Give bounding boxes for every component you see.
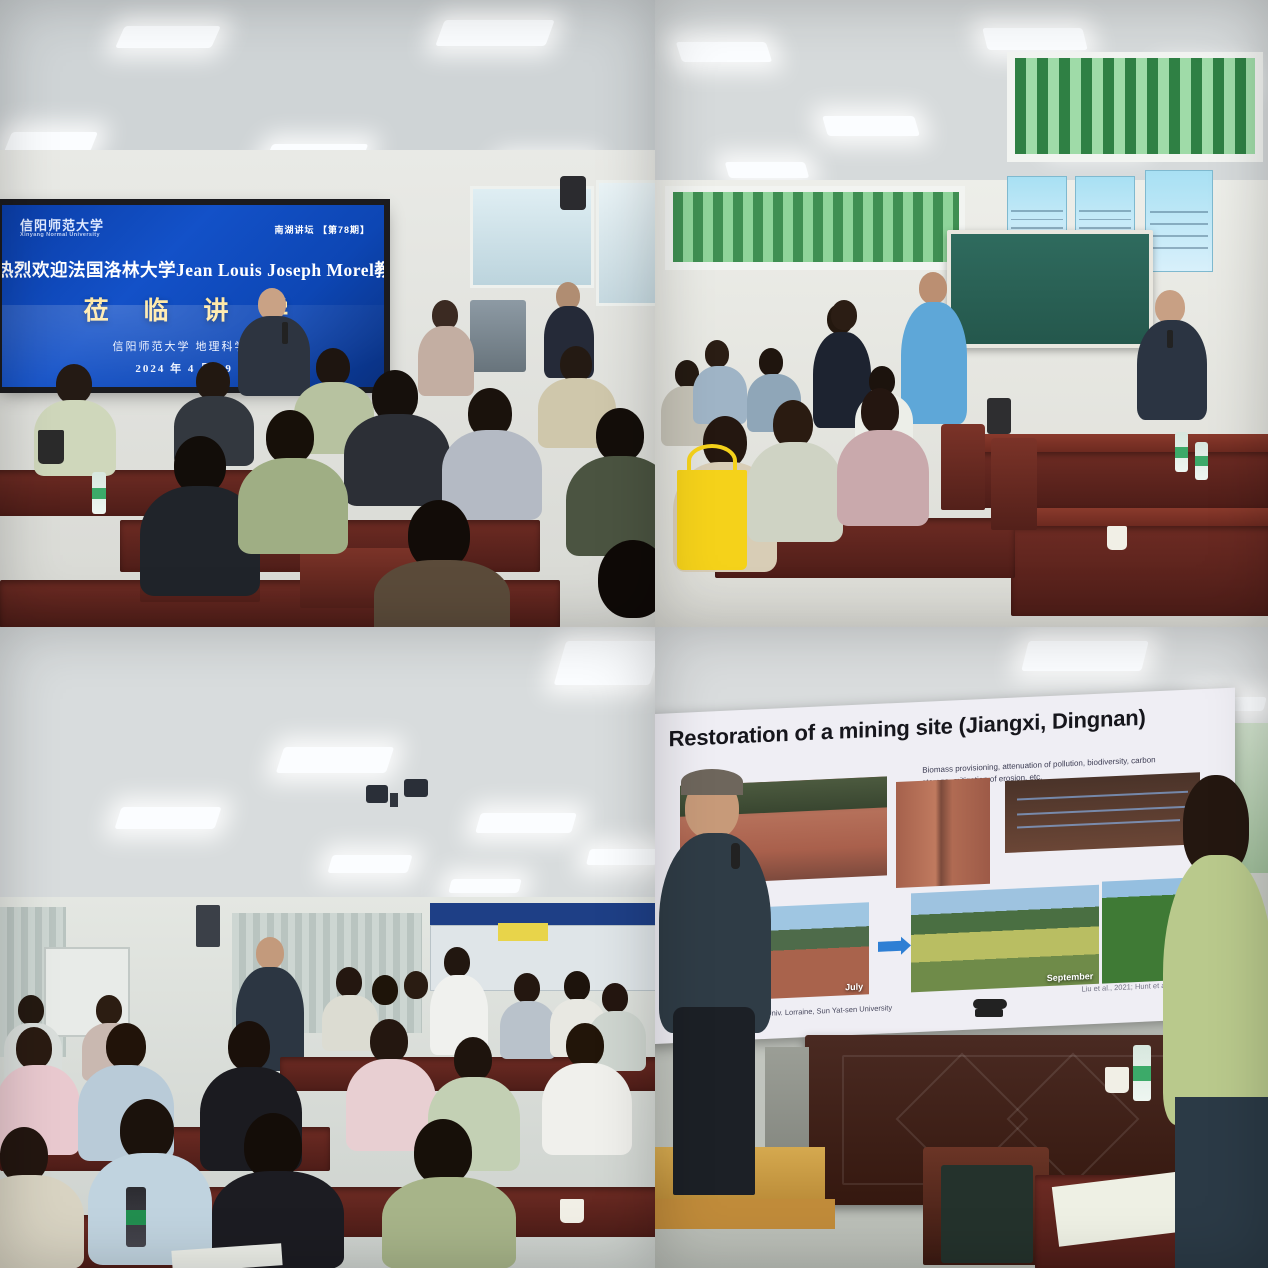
water-bottle xyxy=(1175,432,1188,472)
tote-bag xyxy=(677,470,747,570)
person-head xyxy=(773,400,813,448)
person-head xyxy=(196,362,230,400)
cup xyxy=(1105,1067,1129,1093)
ceiling-light xyxy=(276,747,394,773)
person-head xyxy=(414,1119,472,1185)
stage-edge xyxy=(655,1199,835,1229)
water-bottle xyxy=(92,472,106,514)
person-head xyxy=(705,340,729,368)
slide-photo-september: September xyxy=(911,885,1100,993)
transition-arrow-icon xyxy=(878,940,902,951)
microphone-stand xyxy=(973,999,1007,1009)
person-head xyxy=(266,410,314,464)
person-head xyxy=(404,971,428,999)
microphone xyxy=(731,843,740,869)
person-body xyxy=(238,316,310,396)
ceiling-light xyxy=(115,26,221,48)
ceiling-light xyxy=(1021,641,1148,671)
person-body xyxy=(418,326,474,396)
photo-wide-lecture-room xyxy=(0,627,655,1268)
university-logo: 信阳师范大学 Xinyang Normal University xyxy=(20,219,104,238)
forum-issue-label: 南湖讲坛 【第78期】 xyxy=(274,223,370,236)
person-head xyxy=(596,408,644,462)
microphone-stand-base xyxy=(975,1009,1003,1017)
wall-speaker xyxy=(560,176,586,210)
thermos xyxy=(987,398,1011,434)
cup xyxy=(560,1199,584,1223)
photo-slide-presentation: Restoration of a mining site (Jiangxi, D… xyxy=(655,627,1268,1268)
person-body xyxy=(901,302,967,424)
microphone xyxy=(1167,330,1173,348)
person-head xyxy=(560,346,592,382)
slide-title: Restoration of a mining site (Jiangxi, D… xyxy=(669,705,1146,753)
photo-lecture-banner: 信阳师范大学 Xinyang Normal University 南湖讲坛 【第… xyxy=(0,0,655,627)
ceiling-light xyxy=(822,116,920,136)
person-body xyxy=(837,430,929,526)
ceiling-light xyxy=(554,641,655,685)
collage-panel-bottom-left xyxy=(0,627,655,1268)
person-head xyxy=(370,1019,408,1063)
person-body xyxy=(542,1063,632,1155)
slide-photo-label: July xyxy=(845,982,863,993)
person-head xyxy=(106,1023,146,1069)
person-body xyxy=(88,1153,212,1265)
water-bottle xyxy=(126,1187,146,1247)
banner-headline: 热烈欢迎法国洛林大学Jean Louis Joseph Morel教授 xyxy=(2,257,384,282)
ceiling-light xyxy=(114,807,221,829)
water-bottle xyxy=(1133,1045,1151,1101)
water-bottle xyxy=(1195,442,1208,480)
person-head xyxy=(861,388,899,434)
slide-photo-planting xyxy=(1005,772,1200,853)
person-body xyxy=(747,442,843,542)
person-head xyxy=(514,973,540,1003)
person-head xyxy=(602,983,628,1013)
person-legs xyxy=(673,1007,755,1195)
person-head xyxy=(316,348,350,386)
person-head xyxy=(244,1113,302,1179)
person-body xyxy=(1163,855,1268,1125)
university-logo-en: Xinyang Normal University xyxy=(20,233,104,239)
person-body xyxy=(238,458,348,554)
ceiling-light xyxy=(4,132,98,152)
person-body xyxy=(693,366,747,424)
person-head xyxy=(18,995,44,1025)
person-head xyxy=(336,967,362,997)
person-head xyxy=(919,272,947,304)
window-blinds xyxy=(1015,58,1255,154)
ceiling-light xyxy=(982,28,1087,50)
person-head xyxy=(372,975,398,1005)
person-head xyxy=(598,540,655,618)
person-body xyxy=(344,414,450,506)
person-body xyxy=(500,1001,556,1059)
collage-panel-bottom-right: Restoration of a mining site (Jiangxi, D… xyxy=(655,627,1268,1268)
person-head xyxy=(256,937,284,969)
person-body xyxy=(382,1177,516,1268)
slide-photo-soil-core xyxy=(896,778,990,888)
person-head xyxy=(831,300,857,330)
person-head xyxy=(564,971,590,1001)
window-blinds xyxy=(673,192,959,262)
wall-sign xyxy=(430,903,655,925)
person-body xyxy=(374,560,510,627)
ceiling-light xyxy=(676,42,772,62)
person-head xyxy=(1155,290,1185,324)
ceiling-camera xyxy=(404,779,428,797)
person-legs xyxy=(1175,1097,1268,1268)
cup xyxy=(38,430,64,464)
person-head xyxy=(16,1027,52,1069)
person-head xyxy=(120,1099,174,1161)
slide-photo-label: September xyxy=(1047,971,1094,983)
person-head xyxy=(454,1037,492,1081)
person-body xyxy=(659,833,771,1033)
ceiling-light xyxy=(586,849,655,865)
photo-classroom-blackboard xyxy=(655,0,1268,627)
microphone xyxy=(282,322,288,344)
ceiling-mount xyxy=(390,793,398,807)
person-head xyxy=(566,1023,604,1067)
ceiling-light xyxy=(725,162,810,178)
person-head xyxy=(444,947,470,977)
wall-speaker xyxy=(196,905,220,947)
person-head xyxy=(759,348,783,376)
chair-back xyxy=(991,438,1037,530)
collage-panel-top-right xyxy=(655,0,1268,627)
person-body xyxy=(0,1175,84,1268)
ceiling-light xyxy=(475,813,577,833)
university-logo-cn: 信阳师范大学 xyxy=(20,219,104,233)
window xyxy=(596,180,655,306)
person-head xyxy=(56,364,92,404)
desk-row xyxy=(1011,508,1268,528)
ceiling-camera xyxy=(366,785,388,803)
ceiling-light xyxy=(435,20,554,46)
blackboard xyxy=(947,230,1153,348)
person-hair xyxy=(681,769,743,795)
wall-poster xyxy=(1145,170,1213,272)
ceiling-light xyxy=(327,855,412,873)
banner-subhead: 莅 临 讲 学 xyxy=(2,291,384,327)
cup xyxy=(1107,526,1127,550)
desk-row xyxy=(1011,526,1268,616)
person-head xyxy=(96,995,122,1025)
ceiling-light xyxy=(448,879,521,893)
chair-cushion xyxy=(941,1165,1033,1263)
ceiling xyxy=(0,627,655,917)
collage-panel-top-left: 信阳师范大学 Xinyang Normal University 南湖讲坛 【第… xyxy=(0,0,655,627)
person-head xyxy=(228,1021,270,1071)
chair-back xyxy=(941,424,985,510)
photo-collage: 信阳师范大学 Xinyang Normal University 南湖讲坛 【第… xyxy=(0,0,1268,1268)
yellow-label xyxy=(498,923,548,941)
lectern xyxy=(470,300,526,372)
